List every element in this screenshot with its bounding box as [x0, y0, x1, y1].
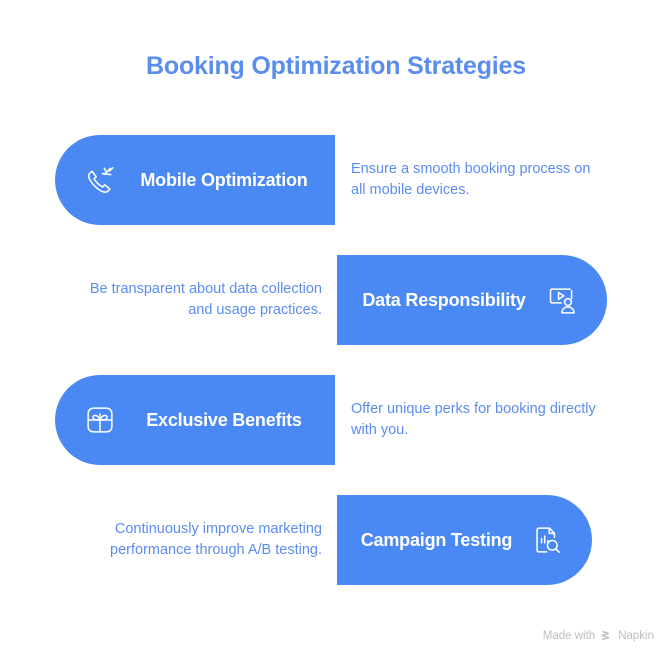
strategy-row: Be transparent about data collection and… [0, 255, 672, 345]
strategy-label: Data Responsibility [351, 290, 541, 311]
strategy-label: Exclusive Benefits [121, 410, 321, 431]
strategy-description: Continuously improve marketing performan… [70, 495, 322, 585]
infographic-canvas: Booking Optimization Strategies Mobile O… [0, 0, 672, 660]
document-chart-search-icon [526, 519, 568, 561]
phone-signal-icon [79, 159, 121, 201]
strategy-pill-data-responsibility[interactable]: Data Responsibility [337, 255, 607, 345]
strategy-description: Offer unique perks for booking directly … [351, 375, 601, 465]
page-title: Booking Optimization Strategies [0, 52, 672, 81]
strategy-pill-mobile-optimization[interactable]: Mobile Optimization [55, 135, 335, 225]
strategy-pill-campaign-testing[interactable]: Campaign Testing [337, 495, 592, 585]
gift-box-icon [79, 399, 121, 441]
strategy-row: Continuously improve marketing performan… [0, 495, 672, 585]
strategy-description: Be transparent about data collection and… [70, 255, 322, 345]
watermark-brand: Napkin [618, 630, 654, 642]
video-person-icon [541, 279, 583, 321]
strategy-label: Campaign Testing [351, 530, 526, 551]
napkin-chevron-logo [600, 629, 613, 642]
made-with-napkin-watermark[interactable]: Made with Napkin [543, 629, 654, 642]
strategy-row: Mobile Optimization Ensure a smooth book… [0, 135, 672, 225]
watermark-prefix: Made with [543, 630, 595, 642]
strategy-label: Mobile Optimization [121, 170, 321, 191]
strategy-description: Ensure a smooth booking process on all m… [351, 135, 601, 225]
strategy-pill-exclusive-benefits[interactable]: Exclusive Benefits [55, 375, 335, 465]
strategy-row: Exclusive Benefits Offer unique perks fo… [0, 375, 672, 465]
